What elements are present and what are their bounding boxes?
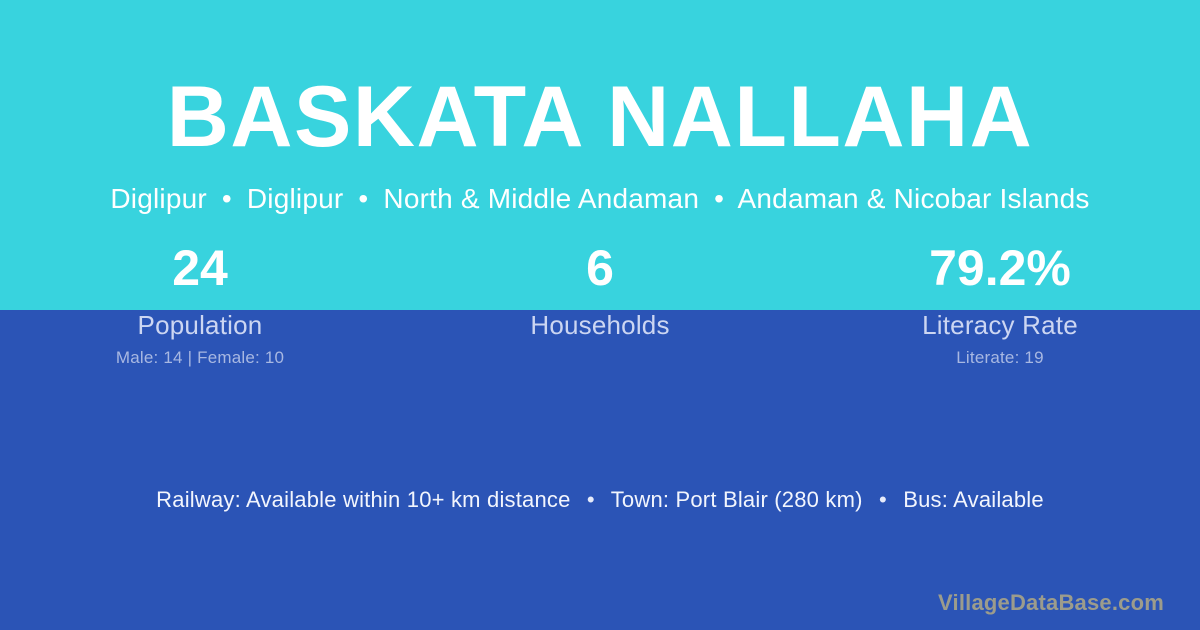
stat-sub-population: Male: 14 | Female: 10 — [0, 348, 400, 368]
stats-row: 24 Population Male: 14 | Female: 10 6 Ho… — [0, 240, 1200, 368]
breadcrumb-part-3: Andaman & Nicobar Islands — [738, 183, 1090, 214]
stat-value-population: 24 — [0, 240, 400, 296]
breadcrumb-separator-1: • — [351, 183, 375, 214]
stat-population: 24 Population Male: 14 | Female: 10 — [0, 240, 400, 368]
amenity-bus: Bus: Available — [903, 487, 1044, 512]
stat-literacy-rate: 79.2% Literacy Rate Literate: 19 — [800, 240, 1200, 368]
village-info-card: BASKATA NALLAHA Diglipur • Diglipur • No… — [0, 0, 1200, 630]
page-title: BASKATA NALLAHA — [0, 74, 1200, 160]
stat-households: 6 Households — [400, 240, 800, 368]
breadcrumb-separator-0: • — [215, 183, 239, 214]
amenity-separator-1: • — [869, 487, 897, 512]
breadcrumb: Diglipur • Diglipur • North & Middle And… — [0, 182, 1200, 216]
stat-sub-literacy-rate: Literate: 19 — [800, 348, 1200, 368]
amenities-line: Railway: Available within 10+ km distanc… — [0, 486, 1200, 514]
stat-value-households: 6 — [400, 240, 800, 296]
amenity-railway: Railway: Available within 10+ km distanc… — [156, 487, 570, 512]
amenity-town: Town: Port Blair (280 km) — [611, 487, 863, 512]
stat-label-population: Population — [0, 310, 400, 340]
stat-label-literacy-rate: Literacy Rate — [800, 310, 1200, 340]
breadcrumb-part-2: North & Middle Andaman — [383, 183, 699, 214]
stat-value-literacy-rate: 79.2% — [800, 240, 1200, 296]
site-watermark: VillageDataBase.com — [938, 590, 1164, 616]
breadcrumb-part-1: Diglipur — [247, 183, 344, 214]
stat-sub-households — [400, 348, 800, 368]
stat-label-households: Households — [400, 310, 800, 340]
breadcrumb-separator-2: • — [707, 183, 731, 214]
breadcrumb-part-0: Diglipur — [110, 183, 207, 214]
amenity-separator-0: • — [577, 487, 605, 512]
